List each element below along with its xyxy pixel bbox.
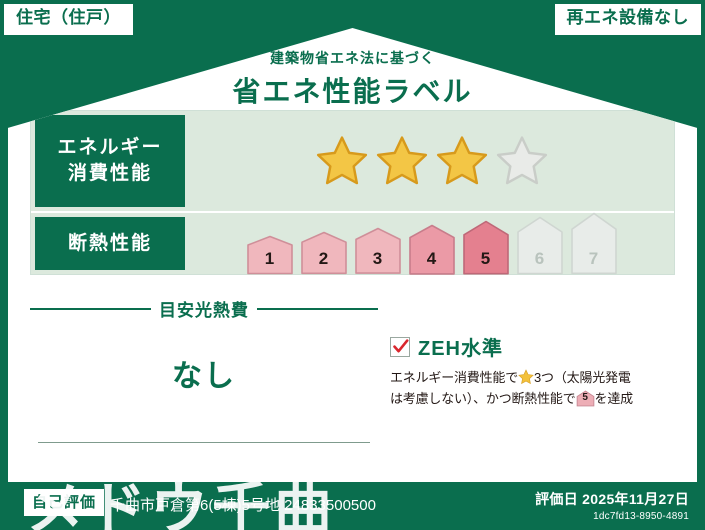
insulation-performance-row: 断熱性能 1234567 (31, 211, 674, 274)
insulation-level-3: 3 (354, 227, 402, 275)
insulation-level-label: 6 (516, 249, 564, 269)
zeh-desc-star-count: 3つ（太陽光発電 (534, 370, 631, 385)
rule-right (257, 308, 378, 310)
zeh-header: ZEH水準 (390, 332, 675, 361)
evaluation-date: 評価日 2025年11月27日 (535, 489, 689, 509)
zeh-block: ZEH水準 エネルギー消費性能で 3つ（太陽光発電 は考慮しない）、かつ断熱性能… (378, 290, 675, 474)
energy-performance-label-key: エネルギー 消費性能 (35, 115, 185, 207)
utility-cost-underline (38, 442, 370, 443)
insulation-level-label: 1 (246, 249, 294, 269)
insulation-level-7: 7 (570, 212, 618, 275)
energy-key-line1: エネルギー (57, 135, 162, 161)
star-empty-icon (494, 134, 550, 188)
zeh-desc-part2: は考慮しない）、かつ断熱性能で (390, 391, 576, 406)
label-sheet-inner: 建築物省エネ法に基づく 省エネ性能ラベル エネルギー 消費性能 (8, 28, 697, 482)
insulation-level-label: 2 (300, 249, 348, 269)
insulation-level-label: 7 (570, 249, 618, 269)
inline-house-label: 5 (576, 390, 595, 406)
evaluation-id: 1dc7fd13-8950-4891 (535, 511, 689, 522)
insulation-performance-value: 1234567 (189, 213, 674, 274)
star-filled-icon (374, 134, 430, 188)
lower-section: 目安光熱費 なし ZEH水準 (30, 290, 675, 474)
insulation-level-4: 4 (408, 224, 456, 275)
insulation-level-5: 5 (462, 220, 510, 275)
label-sheet: 建築物省エネ法に基づく 省エネ性能ラベル エネルギー 消費性能 (8, 28, 697, 482)
rule-left (30, 308, 151, 310)
insulation-key-line1: 断熱性能 (68, 231, 152, 257)
inline-star-icon (518, 369, 534, 385)
zeh-desc-part1: エネルギー消費性能で (390, 370, 518, 385)
property-address: 千曲市戸倉第6(5棟)5号地 24833500500 (110, 494, 376, 515)
renewable-energy-badge: 再エネ設備なし (555, 4, 702, 35)
utility-cost-block: 目安光熱費 なし (30, 290, 378, 474)
energy-key-line2: 消費性能 (68, 161, 152, 187)
insulation-level-label: 3 (354, 249, 402, 269)
zeh-checkbox[interactable] (390, 337, 410, 357)
insulation-level-1: 1 (246, 235, 294, 275)
self-assessment-badge: 自己評価 (24, 489, 104, 516)
insulation-level-6: 6 (516, 216, 564, 275)
label-footer: 千曲市戸倉第6(5棟)5号地 24833500500 自己評価 評価日 2025… (0, 480, 705, 530)
star-rating (314, 134, 550, 188)
zeh-description: エネルギー消費性能で 3つ（太陽光発電 は考慮しない）、かつ断熱性能で 5を達成 (390, 368, 675, 410)
insulation-level-scale: 1234567 (246, 212, 618, 275)
building-type-badge: 住宅（住戸） (4, 4, 133, 35)
utility-cost-value: なし (30, 351, 378, 395)
energy-performance-row: エネルギー 消費性能 (31, 111, 674, 211)
energy-performance-label: 住宅（住戸） 再エネ設備なし 建築物省エネ法に基づく 省エネ性能ラベル エネルギ… (0, 0, 705, 530)
star-filled-icon (434, 134, 490, 188)
performance-table: エネルギー 消費性能 断熱性能 1234567 (30, 110, 675, 275)
evaluation-info: 評価日 2025年11月27日 1dc7fd13-8950-4891 (535, 489, 689, 522)
zeh-desc-part3: を達成 (595, 391, 633, 406)
insulation-level-label: 5 (462, 249, 510, 269)
check-icon (392, 338, 410, 356)
insulation-level-2: 2 (300, 231, 348, 275)
star-filled-icon (314, 134, 370, 188)
insulation-performance-label-key: 断熱性能 (35, 217, 185, 270)
utility-cost-header: 目安光熱費 (30, 296, 378, 321)
utility-cost-title: 目安光熱費 (159, 296, 249, 321)
insulation-level-label: 4 (408, 249, 456, 269)
inline-house-icon: 5 (576, 390, 595, 407)
zeh-title: ZEH水準 (418, 332, 503, 361)
title-block: 建築物省エネ法に基づく 省エネ性能ラベル (8, 48, 697, 110)
energy-performance-value (189, 111, 674, 211)
label-title: 省エネ性能ラベル (8, 70, 697, 110)
label-subtitle: 建築物省エネ法に基づく (8, 48, 697, 68)
